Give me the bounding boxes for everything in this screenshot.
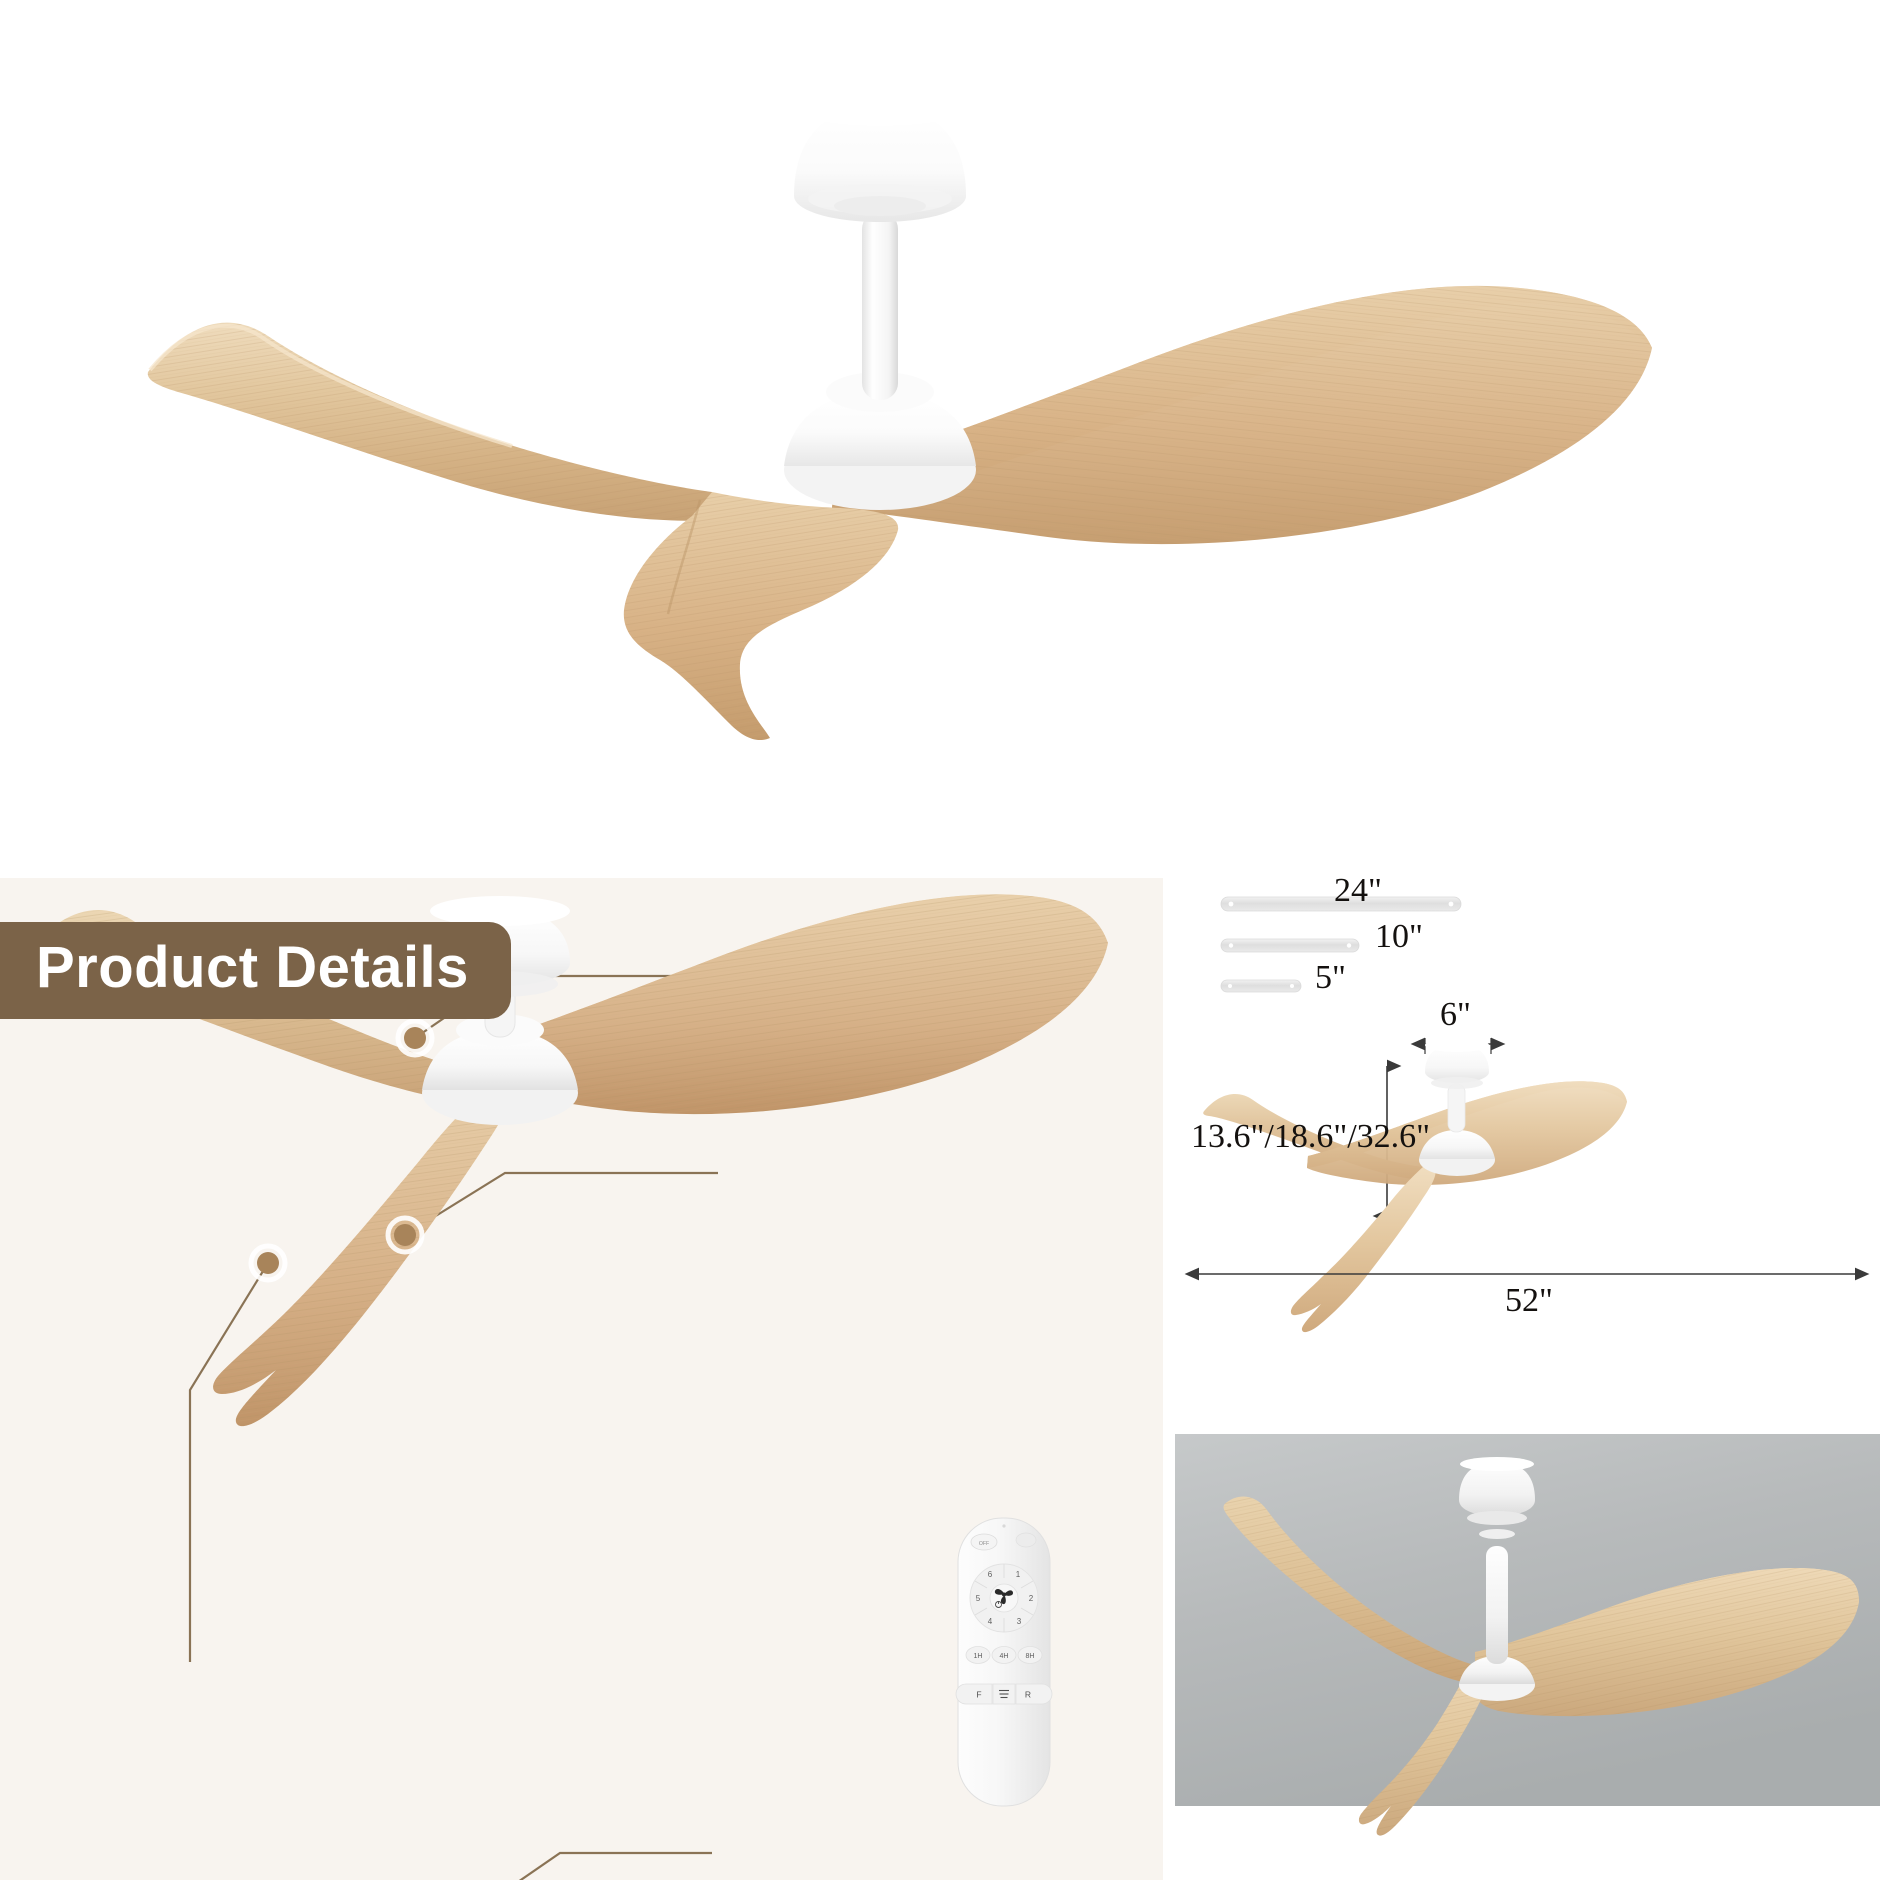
- remote-timer-8h-label: 8H: [1026, 1653, 1035, 1660]
- remote-speed-4[interactable]: 4: [988, 1617, 993, 1626]
- height-options-label: 13.6"/18.6"/32.6": [1191, 1118, 1430, 1156]
- lifestyle-fan-illustration: [1175, 1434, 1880, 1880]
- hero-product-image: [0, 0, 1880, 878]
- remote-timer-4h-label: 4H: [1000, 1653, 1009, 1660]
- remote-function-row[interactable]: F R: [956, 1684, 1052, 1704]
- details-fan-illustration: OFF 1 2 3 4: [0, 878, 1163, 1880]
- remote-reverse-label: R: [1025, 1690, 1031, 1700]
- hero-blade-front-grain: [624, 492, 898, 740]
- remote-power-label: OFF: [979, 1541, 989, 1547]
- remote-speed-3[interactable]: 3: [1017, 1617, 1022, 1626]
- remote-control[interactable]: OFF 1 2 3 4: [956, 1518, 1052, 1806]
- canopy-width-label: 6": [1440, 996, 1471, 1034]
- product-details-panel: OFF 1 2 3 4: [0, 878, 1163, 1880]
- remote-speed-5[interactable]: 5: [976, 1594, 981, 1603]
- hero-blade-left-grain: [148, 323, 718, 521]
- remote-speed-dial[interactable]: 1 2 3 4 5 6: [970, 1564, 1038, 1632]
- remote-forward-label: F: [976, 1690, 981, 1700]
- downrod-label-24: 24": [1334, 878, 1382, 910]
- downrod-bar-10: [1221, 939, 1359, 952]
- photo-bottom-margin: [1175, 1806, 1880, 1880]
- dimensions-panel: 24" 10" 5" 6" 13.6"/18.6"/32.6" 52": [1175, 878, 1880, 1434]
- downrod-label-5: 5": [1315, 959, 1346, 997]
- downrod-label-10: 10": [1375, 918, 1423, 956]
- product-image-sheet: OFF 1 2 3 4: [0, 0, 1880, 1880]
- mini-fan-illustration: [1203, 1038, 1627, 1332]
- hero-blade-right-grain: [832, 286, 1652, 544]
- page-title: Product Details: [0, 922, 511, 1019]
- callout-leader-lines: [200, 1853, 712, 1880]
- remote-speed-2[interactable]: 2: [1029, 1594, 1034, 1603]
- remote-speed-1[interactable]: 1: [1016, 1570, 1021, 1579]
- hero-fan-illustration: [0, 0, 1880, 878]
- canopy-callout-dot: [404, 1027, 426, 1049]
- downrod-bar-5: [1221, 980, 1301, 992]
- remote-blank-button[interactable]: [1016, 1533, 1036, 1547]
- remote-reverse-button[interactable]: [1016, 1684, 1052, 1704]
- remote-timer-row[interactable]: 1H 4H 8H: [966, 1647, 1042, 1664]
- blade-callout-dot: [257, 1252, 279, 1274]
- remote-timer-1h-label: 1H: [974, 1653, 983, 1660]
- dimensions-diagram: [1175, 878, 1880, 1434]
- remote-speed-6[interactable]: 6: [988, 1570, 993, 1579]
- lifestyle-photo: [1175, 1434, 1880, 1880]
- blade-span-label: 52": [1505, 1282, 1553, 1320]
- motor-callout-dot: [394, 1224, 416, 1246]
- photo-downrod: [1486, 1546, 1508, 1664]
- hero-downrod: [862, 212, 898, 400]
- remote-forward-button[interactable]: [956, 1684, 992, 1704]
